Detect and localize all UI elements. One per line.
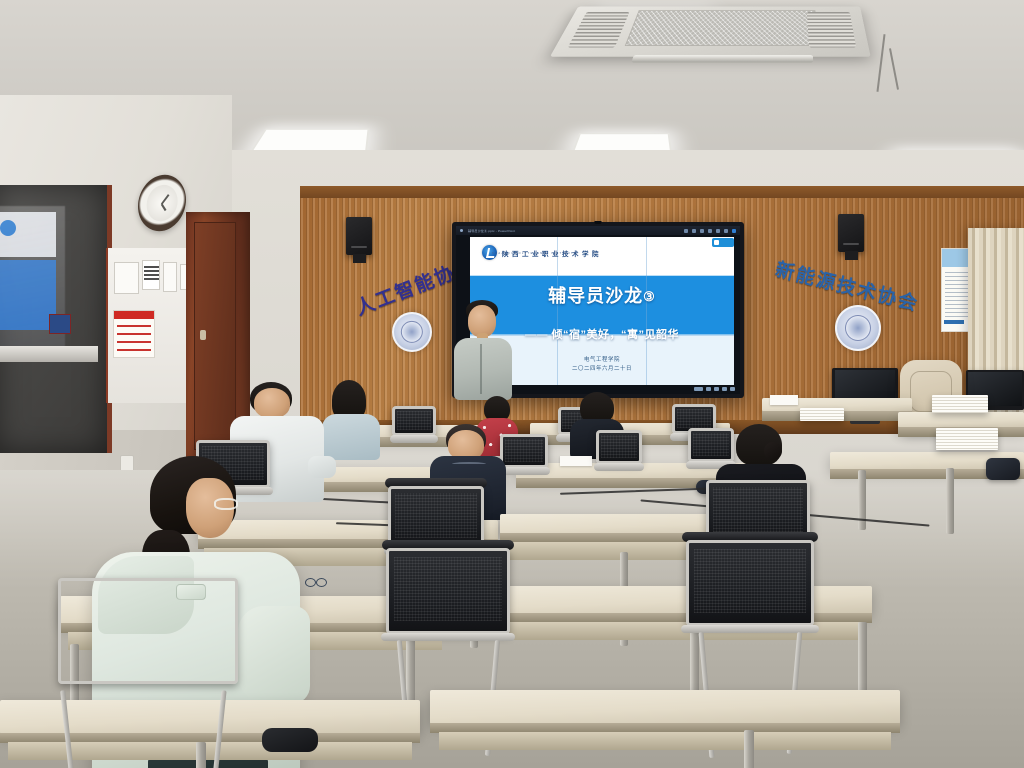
- desk-leg: [946, 468, 954, 534]
- mesh-chair[interactable]: [688, 428, 734, 462]
- chair-mesh: [693, 433, 730, 455]
- attendee-head: [254, 388, 290, 418]
- notice-sheet: [114, 262, 139, 294]
- wall-speaker-icon: [346, 217, 372, 255]
- attendee-top: [322, 414, 380, 460]
- chair-mesh: [505, 439, 544, 461]
- notice-board: [106, 248, 196, 403]
- paper-sheet: [770, 395, 798, 405]
- side-desk: [898, 412, 1024, 428]
- toolbar-icon[interactable]: [708, 229, 712, 233]
- notice-sheet: [142, 260, 160, 290]
- qr-code-icon: [144, 265, 159, 280]
- mesh-chair[interactable]: [596, 430, 642, 464]
- institution-logo-en: SHAANXI POLYTECHNIC INSTITUTE: [492, 252, 577, 255]
- association-seal-right: [835, 305, 881, 351]
- chair-mesh: [713, 487, 803, 532]
- slide-subtitle: —— 倾“宿”美好，“寓”见韶华: [470, 326, 734, 342]
- window-dot-icon: [460, 229, 463, 232]
- chair-back: [596, 430, 642, 464]
- notice-line: [117, 333, 151, 335]
- notice-line: [117, 325, 151, 327]
- poster-band: [944, 320, 964, 324]
- clock-minute-hand: [161, 203, 167, 211]
- eyeglasses: [305, 578, 327, 586]
- wall-speaker-icon: [838, 214, 864, 252]
- chair-rail: [390, 435, 438, 443]
- chair-back: [686, 540, 814, 626]
- board-taskbar[interactable]: [694, 387, 735, 391]
- eyeglasses-icon: [214, 498, 238, 510]
- slide-title: 辅导员沙龙③: [470, 287, 734, 305]
- presentation-window-titlebar: 辅导员沙龙③.pptx - PowerPoint: [456, 226, 740, 235]
- seal-inner: [845, 315, 871, 341]
- ac-lip: [631, 55, 813, 62]
- chair-mesh: [694, 549, 806, 613]
- chair-mesh: [394, 557, 503, 621]
- window-title: 辅导员沙龙③.pptx - PowerPoint: [468, 229, 515, 233]
- notice-line: [117, 341, 151, 343]
- ac-grille: [625, 10, 819, 46]
- slide-title-badge: ③: [643, 290, 656, 303]
- chair-frame: [58, 578, 238, 684]
- mesh-chair[interactable]: [388, 486, 484, 548]
- notice-line: [117, 349, 151, 351]
- ac-vent-right: [807, 12, 856, 48]
- chair-back: [388, 486, 484, 548]
- conference-table: [430, 690, 900, 724]
- notice-red-header: [114, 311, 154, 319]
- paper-sheet: [560, 456, 592, 466]
- cabinet-item: [49, 314, 71, 334]
- chair-back: [392, 406, 436, 436]
- taskbar-icon[interactable]: [722, 387, 727, 391]
- presenter-shirt: [454, 338, 512, 400]
- toolbar-icon[interactable]: [724, 229, 728, 233]
- toolbar-icon[interactable]: [692, 229, 696, 233]
- shirt-placket: [480, 344, 482, 394]
- ceiling-ac-unit: [550, 7, 871, 57]
- toolbar-icon[interactable]: [684, 229, 688, 233]
- taskbar-icon[interactable]: [694, 387, 703, 391]
- cabinet-shelf: [0, 346, 98, 362]
- seal-inner: [401, 321, 423, 343]
- footwear: [262, 728, 318, 752]
- speaker-mount: [845, 251, 858, 260]
- toolbar-icon[interactable]: [700, 229, 704, 233]
- paper-stack: [932, 395, 988, 413]
- slide-guide: [470, 275, 734, 276]
- collar: [452, 462, 486, 466]
- classroom-photo-scene: 人工智能协会 新能源技术协会: [0, 0, 1024, 768]
- chair-back: [500, 434, 548, 468]
- chair-mesh: [677, 409, 712, 428]
- taskbar-icon[interactable]: [730, 387, 735, 391]
- door-knob[interactable]: [200, 330, 206, 340]
- clock-face: [147, 183, 178, 223]
- speaker-mount: [353, 254, 366, 263]
- mesh-chair[interactable]: [58, 578, 238, 684]
- red-header-notice: [113, 310, 155, 358]
- attendee-arm: [238, 606, 310, 704]
- table-apron: [439, 732, 890, 750]
- paper-stack: [800, 408, 844, 421]
- association-seal-left: [392, 312, 432, 352]
- slide-title-text: 辅导员沙龙: [548, 286, 643, 306]
- attendee-arm: [308, 456, 336, 478]
- chair-back: [688, 428, 734, 462]
- chair-back: [386, 548, 510, 634]
- chair-rail: [594, 463, 644, 471]
- board-camera-icon: [595, 221, 602, 224]
- chair-mesh: [601, 435, 638, 457]
- chair-mesh: [395, 493, 478, 538]
- toolbar-icon[interactable]: [716, 229, 720, 233]
- table-leg: [196, 742, 206, 768]
- mesh-chair[interactable]: [386, 548, 510, 634]
- paper-stack: [936, 428, 998, 450]
- taskbar-icon[interactable]: [706, 387, 711, 391]
- screen-share-badge[interactable]: [712, 238, 734, 247]
- chair-mesh: [397, 411, 432, 430]
- ac-vent-left: [568, 12, 630, 48]
- mesh-chair[interactable]: [500, 434, 548, 468]
- notice-sheet: [163, 262, 177, 292]
- table-leg: [744, 730, 754, 768]
- mesh-chair[interactable]: [392, 406, 436, 436]
- share-icon: [714, 240, 719, 245]
- mesh-chair[interactable]: [686, 540, 814, 626]
- titlebar-icon-group[interactable]: [684, 229, 736, 233]
- desk-bag: [986, 458, 1020, 480]
- taskbar-icon[interactable]: [714, 387, 719, 391]
- toolbar-icon-active[interactable]: [732, 229, 736, 233]
- display-cabinet: [0, 185, 112, 453]
- hair-bun: [764, 442, 782, 460]
